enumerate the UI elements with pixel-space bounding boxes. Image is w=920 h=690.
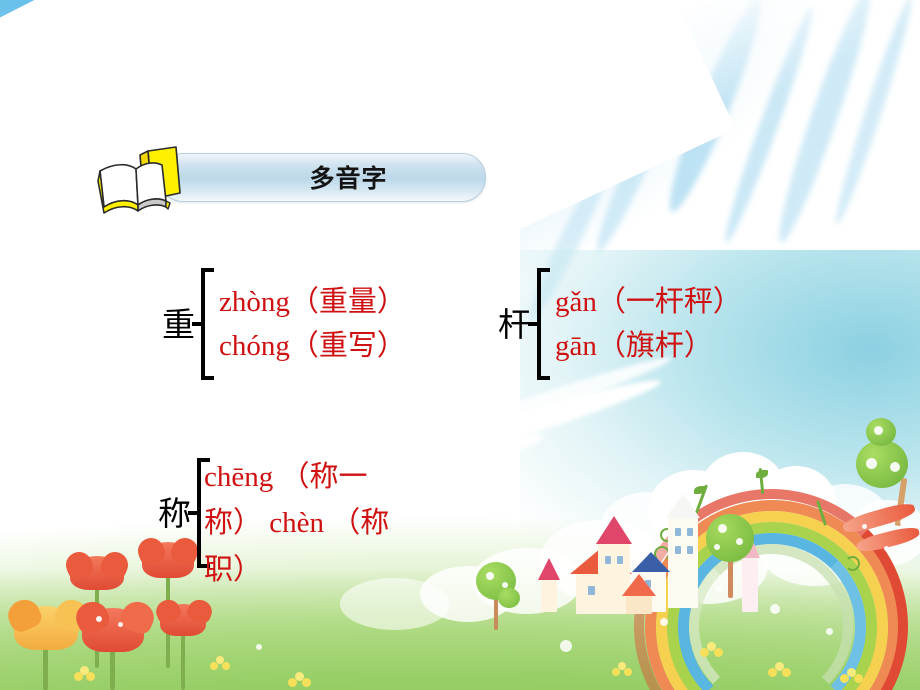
polyphone-group-cheng: 称 chēng （称一 称） chèn （称 职） bbox=[158, 458, 498, 568]
reading-line: gān（旗杆） bbox=[555, 324, 798, 368]
slide-canvas: 多音字 重 zhòng（重量） chóng（重写） 杆 gǎn（一杆秤） gān… bbox=[0, 0, 920, 690]
head-character: 称 bbox=[158, 497, 191, 530]
reading-line: gǎn（一杆秤） bbox=[555, 280, 798, 324]
reading-line: chēng （称一 bbox=[204, 454, 534, 500]
polyphone-group-gan: 杆 gǎn（一杆秤） gān（旗杆） bbox=[498, 268, 798, 380]
brace-icon bbox=[533, 268, 549, 380]
head-character: 杆 bbox=[498, 308, 531, 341]
section-title-row: 多音字 bbox=[96, 141, 396, 215]
reading-line: 称） chèn （称 bbox=[204, 500, 534, 546]
reading-line: zhòng（重量） bbox=[219, 280, 472, 324]
reading-line: 职） bbox=[204, 547, 534, 593]
readings-list: zhòng（重量） chóng（重写） bbox=[219, 280, 472, 368]
open-book-icon bbox=[96, 145, 182, 215]
readings-list: gǎn（一杆秤） gān（旗杆） bbox=[555, 280, 798, 368]
page-title: 多音字 bbox=[159, 153, 484, 200]
reading-line: chóng（重写） bbox=[219, 324, 472, 368]
brace-icon bbox=[197, 268, 213, 380]
polyphone-group-zhong: 重 zhòng（重量） chóng（重写） bbox=[162, 268, 472, 380]
head-character: 重 bbox=[162, 308, 195, 341]
readings-list: chēng （称一 称） chèn （称 职） bbox=[204, 454, 534, 593]
